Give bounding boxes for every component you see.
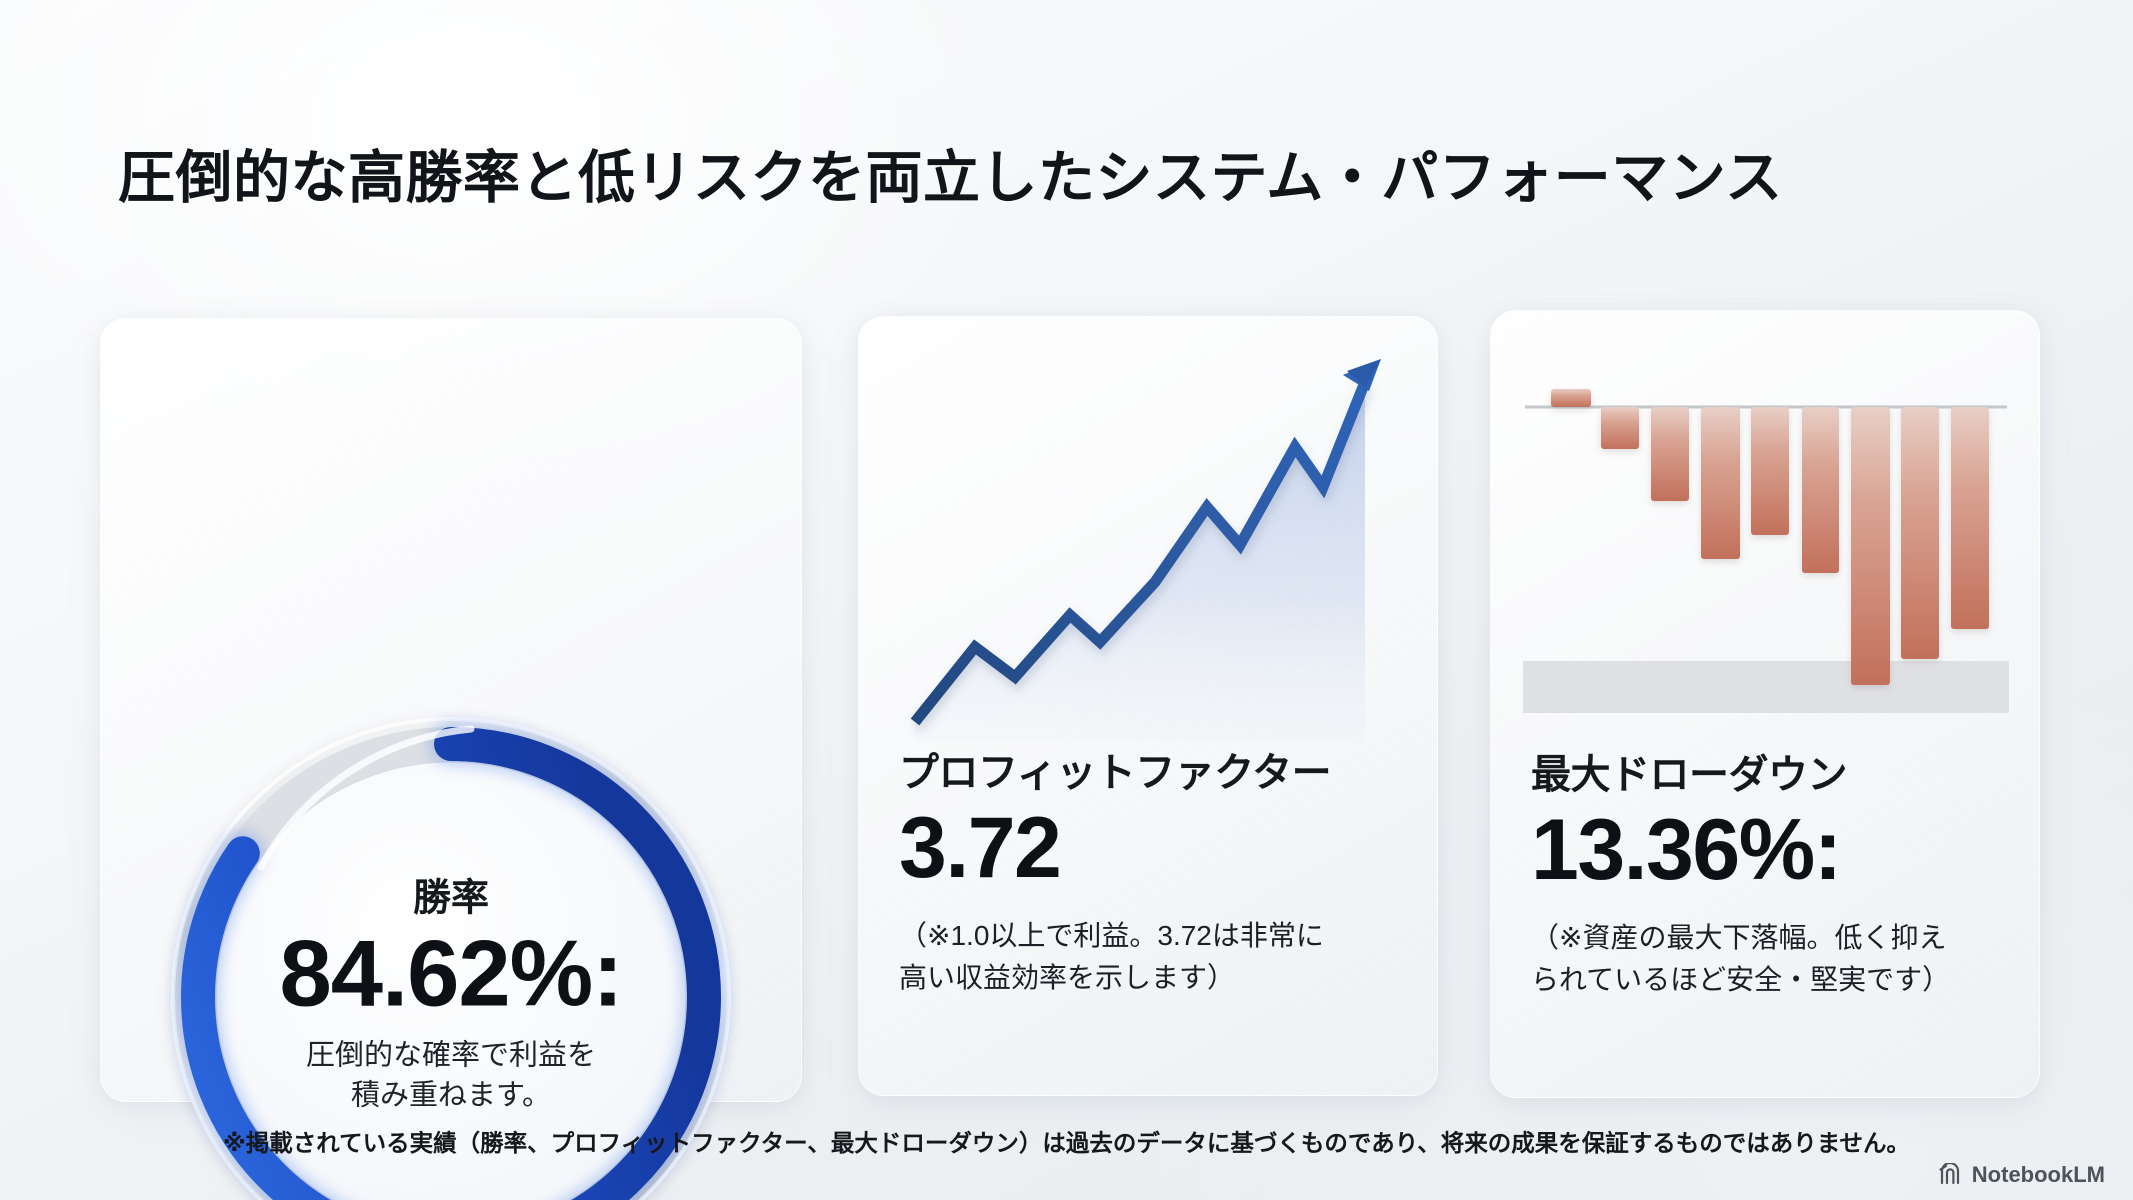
profit-factor-note-line1: （※1.0以上で利益。3.72は非常に <box>899 920 1324 951</box>
disclaimer-note: ※掲載されている実績（勝率、プロフィットファクター、最大ドローダウン）は過去のデ… <box>223 1124 1910 1158</box>
drawdown-bar-chart <box>1523 373 2009 713</box>
notebooklm-watermark: NotebookLM <box>1938 1162 2105 1188</box>
slide-canvas: 圧倒的な高勝率と低リスクを両立したシステム・パフォーマンス <box>0 0 2133 1200</box>
page-title: 圧倒的な高勝率と低リスクを両立したシステム・パフォーマンス <box>118 132 1783 214</box>
max-drawdown-label: 最大ドローダウン <box>1531 751 2015 799</box>
profit-factor-line-chart <box>895 347 1401 747</box>
profit-factor-note: （※1.0以上で利益。3.72は非常に 高い収益効率を示します） <box>899 915 1399 999</box>
max-drawdown-body: 最大ドローダウン 13.36%: （※資産の最大下落幅。低く抑え られているほど… <box>1531 751 2015 1001</box>
profit-factor-label: プロフィットファクター <box>899 749 1413 797</box>
max-drawdown-note-line2: られているほど安全・堅実です） <box>1531 964 1950 995</box>
max-drawdown-value: 13.36%: <box>1531 805 2015 895</box>
metric-card-max-drawdown: 最大ドローダウン 13.36%: （※資産の最大下落幅。低く抑え られているほど… <box>1490 310 2040 1098</box>
profit-factor-body: プロフィットファクター 3.72 （※1.0以上で利益。3.72は非常に 高い収… <box>899 749 1413 999</box>
notebooklm-spiral-icon <box>1938 1163 1964 1187</box>
max-drawdown-note-line1: （※資産の最大下落幅。低く抑え <box>1531 922 1946 953</box>
max-drawdown-note: （※資産の最大下落幅。低く抑え られているほど安全・堅実です） <box>1531 917 2015 1001</box>
metric-card-profit-factor: プロフィットファクター 3.72 （※1.0以上で利益。3.72は非常に 高い収… <box>858 316 1438 1096</box>
profit-factor-value: 3.72 <box>899 803 1413 893</box>
metric-card-winrate: 勝率 84.62%: 圧倒的な確率で利益を 積み重ねます。 <box>100 318 802 1102</box>
notebooklm-label: NotebookLM <box>1972 1162 2105 1188</box>
profit-factor-note-line2: 高い収益効率を示します） <box>899 962 1235 993</box>
